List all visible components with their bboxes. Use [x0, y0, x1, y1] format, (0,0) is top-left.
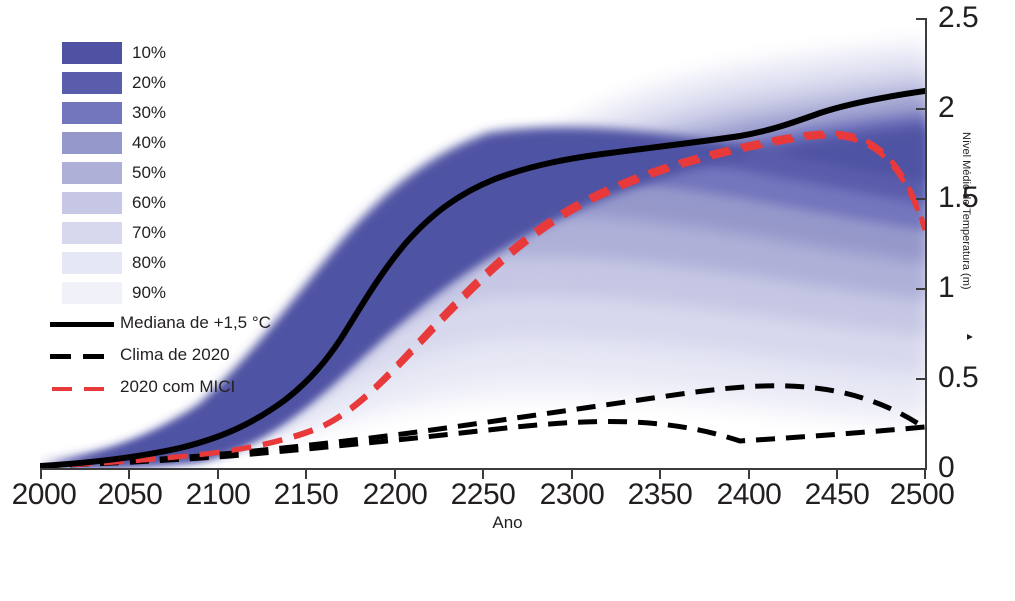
x-axis-label: 2450 [805, 480, 870, 510]
legend-swatch [62, 42, 122, 64]
y-axis-spine [925, 18, 927, 470]
legend-item[interactable]: 50% [62, 158, 292, 188]
y-axis-title: Nível Médio de Temperatura (m) [960, 132, 972, 352]
x-axis-title: Ano [0, 513, 1015, 533]
y-axis-label: 1.5 [938, 183, 978, 213]
legend-label: Clima de 2020 [120, 344, 230, 366]
legend-item[interactable]: 20% [62, 68, 292, 98]
legend-item[interactable]: 90% [62, 278, 292, 308]
y-axis-label: 0.5 [938, 363, 978, 393]
legend-label: 60% [132, 192, 166, 214]
legend-item-2020-mici[interactable]: 2020 com MICI [50, 372, 300, 404]
legend-item[interactable]: 60% [62, 188, 292, 218]
legend-line-solid [50, 322, 114, 327]
legend-bands: 10% 20% 30% 40% 50% 60% 70% 80% [62, 38, 292, 308]
legend-label: 90% [132, 282, 166, 304]
legend-swatch [62, 162, 122, 184]
legend-swatch [62, 72, 122, 94]
x-axis-label: 2350 [628, 480, 693, 510]
y-axis-tick [916, 18, 925, 20]
legend-line-dashed-black [50, 354, 114, 359]
x-axis-label: 2500 [890, 480, 955, 510]
legend-label: 20% [132, 72, 166, 94]
legend-label: Mediana de +1,5 °C [120, 312, 271, 334]
legend-item[interactable]: 30% [62, 98, 292, 128]
x-axis-label: 2150 [274, 480, 339, 510]
x-axis-label: 2050 [98, 480, 163, 510]
y-axis-label: 2 [938, 93, 954, 123]
legend-label: 80% [132, 252, 166, 274]
legend-item[interactable]: 40% [62, 128, 292, 158]
y-axis-label: 2.5 [938, 3, 978, 33]
x-axis-label: 2400 [717, 480, 782, 510]
y-axis-tick [916, 198, 925, 200]
legend-label: 70% [132, 222, 166, 244]
legend-label: 30% [132, 102, 166, 124]
legend-lines: Mediana de +1,5 °C Clima de 2020 2020 co… [50, 308, 300, 404]
legend-line-dashed-red [52, 387, 114, 391]
legend-item-mediana[interactable]: Mediana de +1,5 °C [50, 308, 300, 340]
legend-swatch [62, 222, 122, 244]
y-axis-tick [916, 378, 925, 380]
y-axis-tick [916, 288, 925, 290]
legend-item-clima-2020[interactable]: Clima de 2020 [50, 340, 300, 372]
legend-item[interactable]: 80% [62, 248, 292, 278]
legend-swatch [62, 192, 122, 214]
legend-item[interactable]: 70% [62, 218, 292, 248]
legend-label: 50% [132, 162, 166, 184]
legend-label: 40% [132, 132, 166, 154]
x-axis-label: 2250 [451, 480, 516, 510]
x-axis-label: 2300 [540, 480, 605, 510]
x-axis-label: 2100 [186, 480, 251, 510]
chart-figure: 2.5 2 1.5 1 0.5 0 2000 2050 2100 2150 22… [0, 0, 1015, 601]
y-axis-label: 1 [938, 273, 954, 303]
x-axis-label: 2200 [363, 480, 428, 510]
legend-swatch [62, 102, 122, 124]
legend-swatch [62, 252, 122, 274]
legend-label: 10% [132, 42, 166, 64]
legend-label: 2020 com MICI [120, 376, 235, 398]
y-axis-tick [916, 108, 925, 110]
legend-item[interactable]: 10% [62, 38, 292, 68]
legend-swatch [62, 132, 122, 154]
legend-swatch [62, 282, 122, 304]
x-axis-label: 2000 [12, 480, 77, 510]
